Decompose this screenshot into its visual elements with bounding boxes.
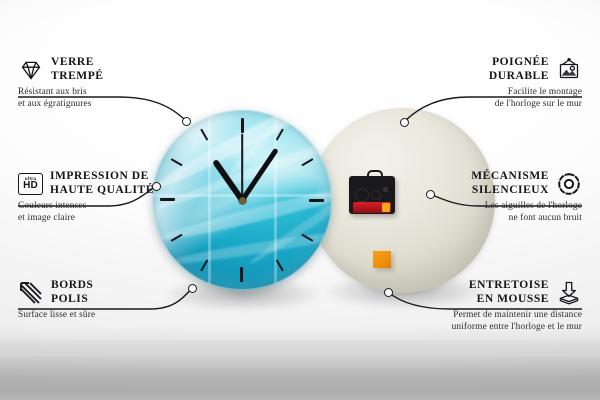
vignette-overlay bbox=[0, 0, 600, 400]
infographic-canvas: VERRE TREMPÉ Résistant aux bris et aux é… bbox=[0, 0, 600, 400]
